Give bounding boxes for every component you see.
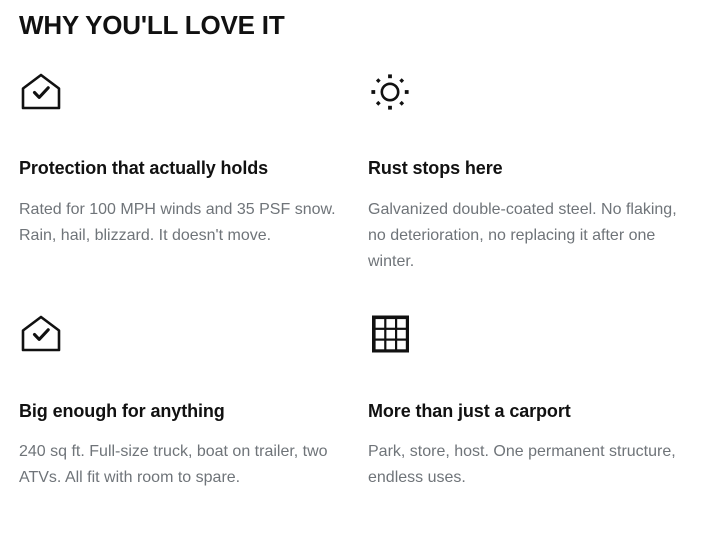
grid-icon — [369, 314, 699, 358]
feature-description: Galvanized double-coated steel. No flaki… — [368, 197, 698, 275]
features-grid: Protection that actually holds Rated for… — [19, 72, 699, 491]
house-check-icon — [20, 314, 368, 358]
feature-card-size: Big enough for anything 240 sq ft. Full-… — [19, 314, 368, 491]
page-title: WHY YOU'LL LOVE IT — [19, 8, 285, 42]
feature-card-rust: Rust stops here Galvanized double-coated… — [368, 72, 699, 314]
feature-heading: Protection that actually holds — [19, 156, 368, 180]
why-you-love-it-section: WHY YOU'LL LOVE IT Protection that actua… — [0, 0, 715, 540]
feature-description: 240 sq ft. Full-size truck, boat on trai… — [19, 439, 337, 491]
feature-heading: Rust stops here — [368, 156, 699, 180]
feature-heading: Big enough for anything — [19, 399, 368, 423]
feature-card-protection: Protection that actually holds Rated for… — [19, 72, 368, 314]
feature-card-versatility: More than just a carport Park, store, ho… — [368, 314, 699, 491]
house-check-icon — [20, 72, 368, 116]
feature-description: Park, store, host. One permanent structu… — [368, 439, 698, 491]
feature-heading: More than just a carport — [368, 399, 699, 423]
sun-icon — [369, 72, 699, 116]
feature-description: Rated for 100 MPH winds and 35 PSF snow.… — [19, 197, 337, 249]
